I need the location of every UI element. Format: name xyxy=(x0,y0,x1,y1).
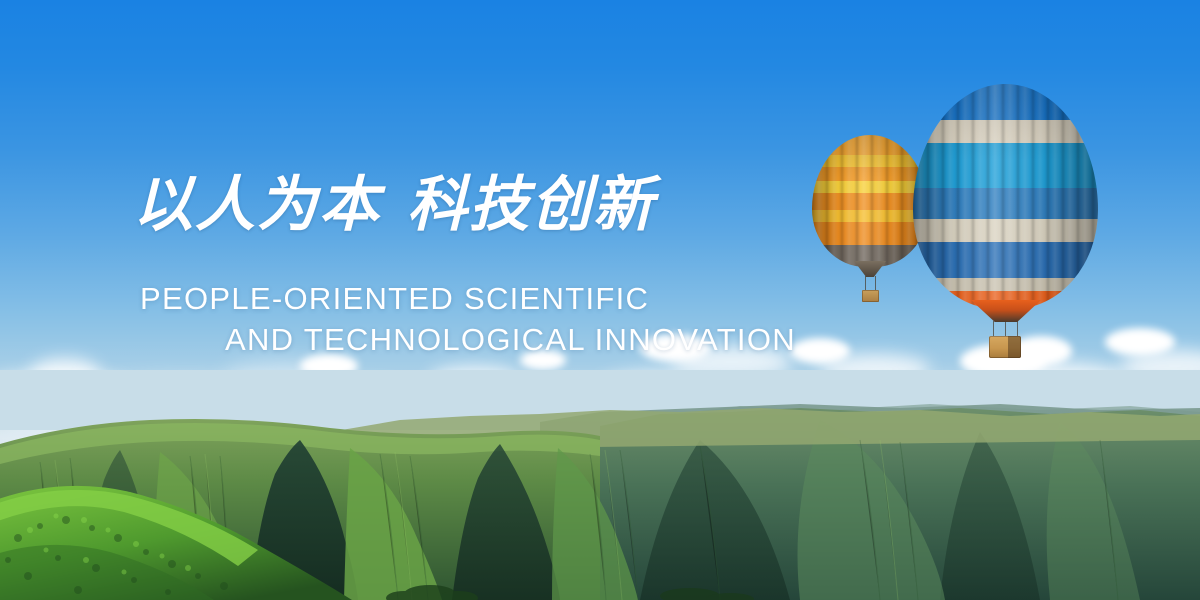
headline-part-2: 科技创新 xyxy=(407,170,655,240)
headline-part-1: 以人为本 xyxy=(133,170,381,240)
subtitle-line-2: AND TECHNOLOGICAL INNOVATION xyxy=(140,319,796,360)
banner-subtitle: PEOPLE-ORIENTED SCIENTIFIC AND TECHNOLOG… xyxy=(140,278,796,360)
banner-headline: 以人为本科技创新 xyxy=(133,175,655,235)
banner-copy: 以人为本科技创新 PEOPLE-ORIENTED SCIENTIFIC AND … xyxy=(0,0,1200,600)
subtitle-line-1: PEOPLE-ORIENTED SCIENTIFIC xyxy=(140,281,649,316)
hero-banner: 以人为本科技创新 PEOPLE-ORIENTED SCIENTIFIC AND … xyxy=(0,0,1200,600)
